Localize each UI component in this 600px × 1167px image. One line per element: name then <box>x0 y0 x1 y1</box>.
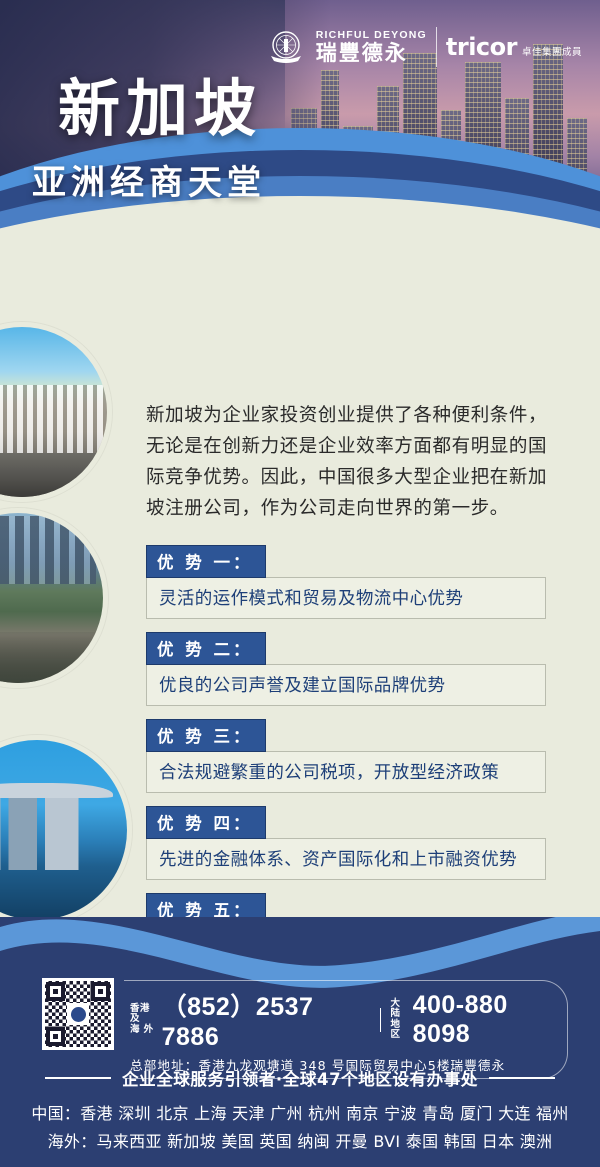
cities-overseas: 海外：马来西亚 新加坡 美国 英国 纳闽 开曼 BVI 泰国 韩国 日本 澳洲 <box>0 1128 600 1156</box>
cn-phone-label: 大陆 地区 <box>390 999 409 1039</box>
hk-phone-label-line1: 香港及 <box>130 1004 159 1024</box>
hk-phone-label-line2: 海 外 <box>130 1025 159 1035</box>
advantage-item-3: 优 势 三： 合法规避繁重的公司税项，开放型经济政策 <box>146 719 546 793</box>
hk-phone-label: 香港及 海 外 <box>130 1004 159 1034</box>
page-subtitle: 亚洲经商天堂 <box>32 166 266 200</box>
cities-china: 中国：香港 深圳 北京 上海 天津 广州 杭州 南京 宁波 青岛 厦门 大连 福… <box>0 1100 600 1128</box>
advantage-label: 优 势 三： <box>146 719 266 752</box>
slogan-rule-left <box>45 1077 111 1079</box>
shophouse-street-photo <box>0 322 112 502</box>
advantage-label: 优 势 二： <box>146 632 266 665</box>
advantage-item-4: 优 势 四： 先进的金融体系、资产国际化和上市融资优势 <box>146 806 546 880</box>
company-crest-icon <box>265 26 307 68</box>
marina-bay-sands-photo <box>0 735 132 925</box>
advantage-label: 优 势 一： <box>146 545 266 578</box>
partner-logo: tricor 卓佳集團成員 <box>446 33 582 61</box>
advantage-label: 优 势 四： <box>146 806 266 839</box>
logo-divider <box>436 27 437 67</box>
advantage-text: 合法规避繁重的公司税项，开放型经济政策 <box>146 751 546 793</box>
brand-logo: RICHFUL DEYONG 瑞豐德永 tricor 卓佳集團成員 <box>265 26 582 68</box>
brand-names: RICHFUL DEYONG 瑞豐德永 <box>316 30 427 65</box>
qr-code-icon[interactable] <box>42 978 114 1050</box>
slogan-rule-right <box>489 1077 555 1079</box>
cn-phone-label-line2: 地区 <box>390 1020 409 1040</box>
hk-phone-number[interactable]: （852）2537 7886 <box>162 987 371 1052</box>
partner-subtitle: 卓佳集團成員 <box>522 44 582 58</box>
advantage-text: 灵活的运作模式和贸易及物流中心优势 <box>146 577 546 619</box>
phone-divider <box>380 1008 382 1032</box>
slogan-row: 企业全球服务引领者·全球47个地区设有办事处 <box>0 1066 600 1090</box>
partner-name: tricor <box>446 33 517 61</box>
advantage-text: 优良的公司声誉及建立国际品牌优势 <box>146 664 546 706</box>
phone-row: 香港及 海 外 （852）2537 7886 大陆 地区 400-880 809… <box>124 987 567 1052</box>
poster-root: RICHFUL DEYONG 瑞豐德永 tricor 卓佳集團成員 新加坡 亚洲… <box>0 0 600 1167</box>
intro-paragraph: 新加坡为企业家投资创业提供了各种便利条件，无论是在创新力还是企业效率方面都有明显… <box>146 400 566 524</box>
contact-block: 香港及 海 外 （852）2537 7886 大陆 地区 400-880 809… <box>124 980 568 1079</box>
cn-phone-label-line1: 大陆 <box>390 999 409 1019</box>
brand-en-name: RICHFUL DEYONG <box>316 30 427 41</box>
advantage-item-2: 优 势 二： 优良的公司声誉及建立国际品牌优势 <box>146 632 546 706</box>
page-title: 新加坡 <box>58 78 262 140</box>
header-arc-cream <box>0 196 600 300</box>
cn-phone-number[interactable]: 400-880 8098 <box>413 991 567 1049</box>
office-locations: 中国：香港 深圳 北京 上海 天津 广州 杭州 南京 宁波 青岛 厦门 大连 福… <box>0 1100 600 1156</box>
advantage-item-1: 优 势 一： 灵活的运作模式和贸易及物流中心优势 <box>146 545 546 619</box>
advantage-list: 优 势 一： 灵活的运作模式和贸易及物流中心优势 优 势 二： 优良的公司声誉及… <box>146 545 546 980</box>
riverside-city-photo <box>0 508 108 688</box>
slogan-text: 企业全球服务引领者·全球47个地区设有办事处 <box>122 1066 478 1090</box>
brand-cn-name: 瑞豐德永 <box>316 43 427 64</box>
advantage-text: 先进的金融体系、资产国际化和上市融资优势 <box>146 838 546 880</box>
